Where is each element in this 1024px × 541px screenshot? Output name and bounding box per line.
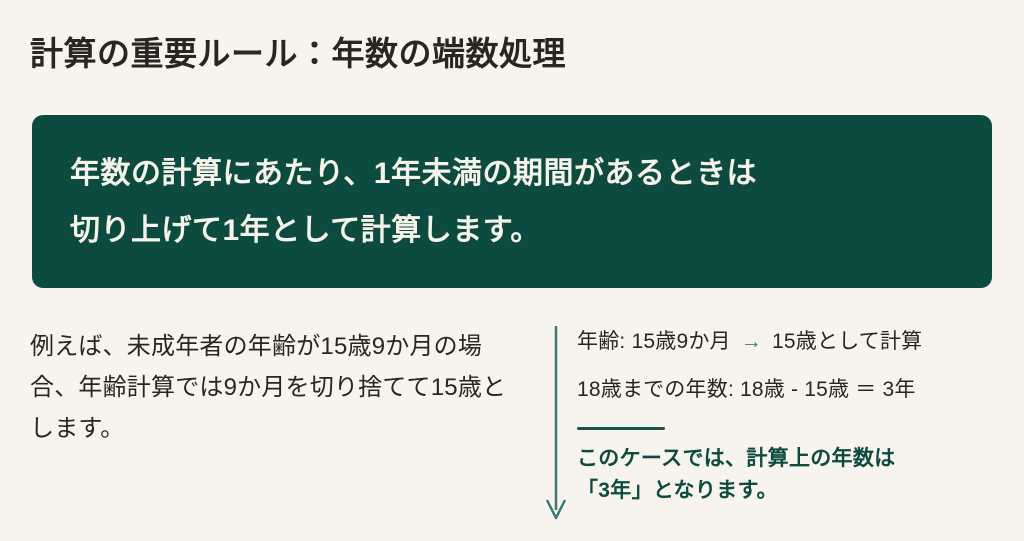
conclusion-line-2: 「3年」となります。	[577, 475, 1024, 507]
explanation-paragraph: 例えば、未成年者の年齢が15歳9か月の場合、年齢計算では9か月を切り捨てて15歳…	[30, 326, 515, 449]
calculation-body: 年齢: 15歳9か月 → 15歳として計算 18歳までの年数: 18歳 - 15…	[577, 318, 1024, 507]
right-arrow-icon: →	[737, 330, 766, 353]
section-divider	[577, 427, 665, 430]
calc-line-age: 年齢: 15歳9か月 → 15歳として計算	[577, 318, 1024, 366]
detail-columns: 例えば、未成年者の年齢が15歳9か月の場合、年齢計算では9か月を切り捨てて15歳…	[0, 318, 1024, 541]
conclusion-line-1: このケースでは、計算上の年数は	[577, 443, 1024, 475]
conclusion-block: このケースでは、計算上の年数は 「3年」となります。	[577, 443, 1024, 507]
calc-age-label: 年齢:	[577, 330, 625, 353]
callout-line-1: 年数の計算にあたり、1年未満の期間があるときは	[70, 145, 954, 202]
page-title: 計算の重要ルール：年数の端数処理	[30, 27, 566, 75]
calculation-column: 年齢: 15歳9か月 → 15歳として計算 18歳までの年数: 18歳 - 15…	[530, 318, 1024, 541]
calc-age-after: 15歳として計算	[772, 330, 922, 353]
callout-line-2: 切り上げて1年として計算します。	[70, 202, 954, 259]
explanation-column: 例えば、未成年者の年齢が15歳9か月の場合、年齢計算では9か月を切り捨てて15歳…	[30, 326, 515, 449]
rule-callout-box: 年数の計算にあたり、1年未満の期間があるときは 切り上げて1年として計算します。	[32, 115, 992, 288]
flow-down-arrow-icon	[544, 326, 568, 522]
calc-line-years: 18歳までの年数: 18歳 - 15歳 ＝ 3年	[577, 366, 1024, 414]
slide-root: 計算の重要ルール：年数の端数処理 年数の計算にあたり、1年未満の期間があるときは…	[0, 0, 1024, 541]
calc-age-before: 15歳9か月	[631, 330, 730, 353]
